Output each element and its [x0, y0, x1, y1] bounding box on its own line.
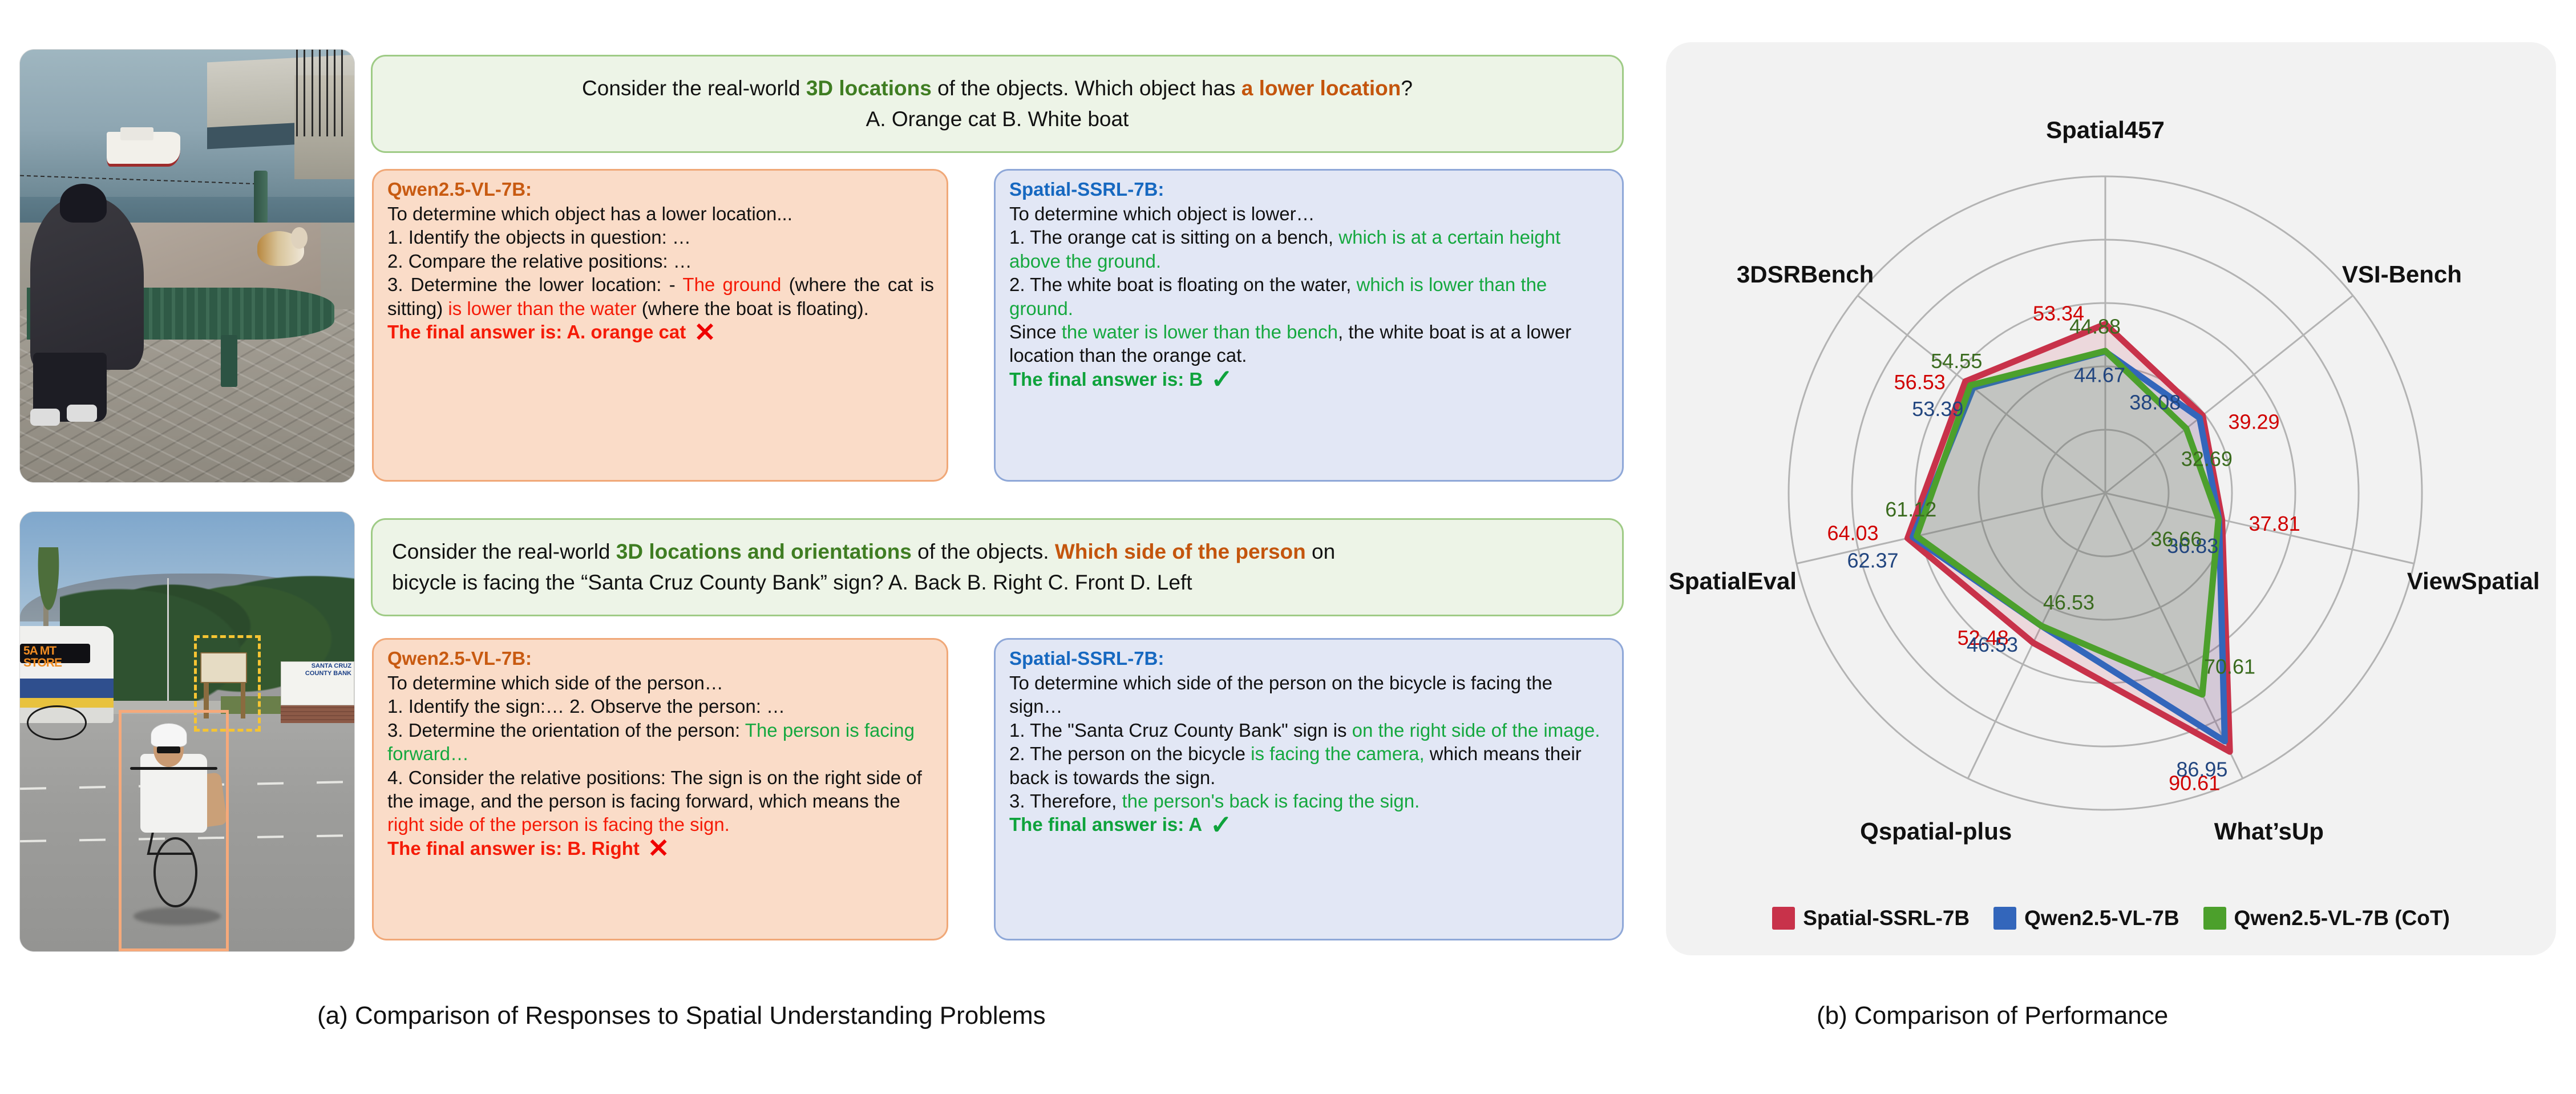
- a2r-final-text: The final answer is: A: [1009, 813, 1202, 836]
- a1l-line-3: 3. Determine the lower location: -: [387, 274, 682, 295]
- answer-2-right-step2: 2. The person on the bicycle is facing t…: [1009, 742, 1610, 789]
- caption-panel-b: (b) Comparison of Performance: [1817, 1002, 2168, 1030]
- bus-destination-text: 5A MT STORE: [20, 644, 90, 669]
- a2l-line-4: 4. Consider the relative positions: The …: [387, 767, 922, 812]
- a2l-line-2: 3. Determine the orientation of the pers…: [387, 720, 745, 741]
- check-icon: ✓: [1211, 370, 1233, 388]
- answer-box-2-qwen: Qwen2.5-VL-7B: To determine which side o…: [372, 638, 948, 940]
- q1-pre: Consider the real-world: [582, 76, 806, 100]
- legend-item-spatial-ssrl-7b[interactable]: Spatial-SSRL-7B: [1772, 906, 1970, 930]
- answer-2-right-step3: 3. Therefore, the person's back is facin…: [1009, 789, 1610, 813]
- answer-2-right-model-label: Spatial-SSRL-7B:: [1009, 648, 1610, 669]
- person-shoe-left: [30, 409, 60, 426]
- q2-pre: Consider the real-world: [392, 540, 616, 563]
- radar-axis-label-what-sup: What’sUp: [2214, 818, 2324, 845]
- a2r-line-4: is facing the camera,: [1251, 743, 1424, 764]
- q1-highlight-orange: a lower location: [1242, 76, 1401, 100]
- person-shoe-right: [67, 405, 97, 422]
- bollard: [254, 171, 267, 223]
- answer-2-right-step1: 1. The "Santa Cruz County Bank" sign is …: [1009, 718, 1610, 742]
- a1l-line-2: 2. Compare the relative positions: …: [387, 251, 692, 272]
- answer-box-1-qwen: Qwen2.5-VL-7B: To determine which object…: [372, 169, 948, 482]
- answer-1-right-model-label: Spatial-SSRL-7B:: [1009, 179, 1610, 200]
- legend-label: Qwen2.5-VL-7B: [2024, 906, 2179, 930]
- legend-swatch: [1993, 907, 2016, 930]
- flag-pole: [167, 578, 169, 710]
- caption-panel-a: (a) Comparison of Responses to Spatial U…: [317, 1002, 1046, 1030]
- bank-sign-line-2: COUNTY BANK: [281, 669, 354, 677]
- example-1-photo: [19, 49, 355, 483]
- radar-axis-label-viewspatial: ViewSpatial: [2407, 568, 2540, 595]
- legend-swatch: [1772, 907, 1795, 930]
- answer-box-2-ssrl: Spatial-SSRL-7B: To determine which side…: [994, 638, 1624, 940]
- question-box-2: Consider the real-world 3D locations and…: [371, 518, 1624, 616]
- santa-cruz-county-bank-sign: SANTA CRUZ COUNTY BANK: [281, 661, 354, 705]
- person-hat: [60, 184, 107, 223]
- a1r-line-3: 2. The white boat is floating on the wat…: [1009, 274, 1356, 295]
- radar-value-label: 54.55: [1931, 349, 1982, 373]
- answer-1-right-body: To determine which object is lower…: [1009, 202, 1610, 225]
- a1r-final-text: The final answer is: B: [1009, 368, 1203, 391]
- bank-sign-line-1: SANTA CRUZ: [281, 662, 354, 670]
- street-scene: 5A MT STORE SANTA CRUZ COUNTY BANK: [20, 512, 354, 951]
- a2r-line-3: 2. The person on the bicycle: [1009, 743, 1251, 764]
- answer-2-left-model-label: Qwen2.5-VL-7B:: [387, 648, 934, 669]
- q1-mid: of the objects. Which object has: [932, 76, 1242, 100]
- answer-2-right-final: The final answer is: A ✓: [1009, 813, 1610, 836]
- question-2-line-1: Consider the real-world 3D locations and…: [392, 536, 1603, 567]
- panel-a-qualitative: 5A MT STORE SANTA CRUZ COUNTY BANK: [0, 0, 1643, 1094]
- radar-value-label: 56.53: [1894, 370, 1946, 394]
- radar-axis-label-3dsrbench: 3DSRBench: [1737, 261, 1874, 288]
- bench-leg: [221, 335, 237, 387]
- a1l-line-6: is lower than the water: [448, 298, 636, 319]
- answer-2-right-body: To determine which side of the person on…: [1009, 671, 1610, 718]
- a2r-line-0: To determine which side of the person on…: [1009, 672, 1552, 717]
- a1r-line-5: Since: [1009, 321, 1062, 342]
- answer-2-left-body: To determine which side of the person…: [387, 671, 934, 695]
- radar-value-label: 37.81: [2249, 512, 2300, 535]
- check-icon: ✓: [1210, 816, 1232, 834]
- legend-label: Spatial-SSRL-7B: [1803, 906, 1970, 930]
- cross-icon: ✕: [648, 839, 670, 857]
- answer-1-right-conclusion: Since the water is lower than the bench,…: [1009, 320, 1610, 368]
- a2r-line-2: on the right side of the image.: [1352, 720, 1600, 741]
- question-2-line-2: bicycle is facing the “Santa Cruz County…: [392, 567, 1603, 598]
- radar-value-label: 38.08: [2129, 391, 2181, 414]
- legend-item-qwen2-5-vl-7b[interactable]: Qwen2.5-VL-7B: [1993, 906, 2179, 930]
- answer-1-right-final: The final answer is: B ✓: [1009, 368, 1610, 391]
- question-1-line-1: Consider the real-world 3D locations of …: [392, 73, 1603, 104]
- answer-2-left-final: The final answer is: B. Right ✕: [387, 837, 934, 860]
- answer-1-right-step1: 1. The orange cat is sitting on a bench,…: [1009, 225, 1610, 273]
- radar-value-label: 70.61: [2204, 655, 2255, 679]
- radar-value-label: 46.53: [1967, 633, 2018, 656]
- radar-legend: Spatial-SSRL-7BQwen2.5-VL-7BQwen2.5-VL-7…: [1666, 906, 2556, 930]
- answer-1-left-model-label: Qwen2.5-VL-7B:: [387, 179, 934, 200]
- radar-value-label: 64.03: [1827, 522, 1878, 545]
- question-1-options: A. Orange cat B. White boat: [392, 104, 1603, 135]
- q2-highlight-orange: Which side of the person: [1055, 540, 1306, 563]
- bus-destination-sign: 5A MT STORE: [20, 644, 90, 663]
- q2-highlight-green: 3D locations and orientations: [616, 540, 912, 563]
- legend-swatch: [2203, 907, 2226, 930]
- q2-post: on: [1306, 540, 1335, 563]
- a1l-line-1: 1. Identify the objects in question: …: [387, 227, 691, 248]
- legend-item-qwen2-5-vl-7b-cot-[interactable]: Qwen2.5-VL-7B (CoT): [2203, 906, 2450, 930]
- radar-axis-label-qspatial-plus: Qspatial-plus: [1860, 818, 2012, 845]
- figure-root: 5A MT STORE SANTA CRUZ COUNTY BANK: [0, 0, 2576, 1094]
- legend-label: Qwen2.5-VL-7B (CoT): [2234, 906, 2450, 930]
- radar-chart-svg: Spatial457VSI-BenchViewSpatialWhat’sUpQs…: [1666, 42, 2556, 864]
- radar-value-label: 36.66: [2150, 527, 2202, 551]
- a2l-line-0: To determine which side of the person…: [387, 672, 723, 693]
- answer-1-left-step2: 2. Compare the relative positions: …: [387, 249, 934, 273]
- radar-value-label: 32.69: [2181, 447, 2233, 470]
- a2l-final-text: The final answer is: B. Right: [387, 837, 640, 860]
- railing: [294, 50, 348, 136]
- orange-annotation-box: [119, 710, 229, 952]
- a1l-line-0: To determine which object has a lower lo…: [387, 203, 792, 224]
- answer-1-left-step1: 1. Identify the objects in question: …: [387, 225, 934, 249]
- cat-head: [291, 227, 308, 249]
- example-2-photo: 5A MT STORE SANTA CRUZ COUNTY BANK: [19, 511, 355, 952]
- radar-value-label: 61.12: [1885, 498, 1936, 521]
- panel-b-radar-chart: Spatial457VSI-BenchViewSpatialWhat’sUpQs…: [1666, 42, 2556, 955]
- bike-on-bus-rack: [27, 705, 87, 741]
- a1l-final-text: The final answer is: A. orange cat: [387, 320, 686, 344]
- a2l-line-5: right side of the person is facing the s…: [387, 814, 730, 835]
- answer-2-left-steps12: 1. Identify the sign:… 2. Observe the pe…: [387, 695, 934, 718]
- radar-value-label: 44.88: [2069, 314, 2121, 338]
- radar-axis-label-vsi-bench: VSI-Bench: [2342, 261, 2462, 288]
- radar-value-label: 39.29: [2228, 410, 2279, 434]
- question-box-1: Consider the real-world 3D locations of …: [371, 55, 1624, 153]
- answer-box-1-ssrl: Spatial-SSRL-7B: To determine which obje…: [994, 169, 1624, 482]
- a2r-line-1: 1. The "Santa Cruz County Bank" sign is: [1009, 720, 1352, 741]
- seated-person: [30, 197, 144, 370]
- radar-value-label: 53.39: [1912, 397, 1963, 421]
- answer-2-left-step4: 4. Consider the relative positions: The …: [387, 766, 934, 837]
- a1l-line-7: (where the boat is floating).: [637, 298, 869, 319]
- a2r-line-6: 3. Therefore,: [1009, 790, 1122, 812]
- answer-1-left-step3: 3. Determine the lower location: - The g…: [387, 273, 934, 320]
- radar-axis-label-spatialeval: SpatialEval: [1669, 568, 1797, 595]
- q1-post: ?: [1401, 76, 1413, 100]
- a1l-line-4: The ground: [682, 274, 781, 295]
- answer-1-left-final: The final answer is: A. orange cat ✕: [387, 320, 934, 344]
- answer-2-left-step3: 3. Determine the orientation of the pers…: [387, 718, 934, 766]
- radar-value-label: 46.53: [2043, 591, 2094, 614]
- answer-1-left-body: To determine which object has a lower lo…: [387, 202, 934, 225]
- a1r-line-6: the water is lower than the bench: [1062, 321, 1338, 342]
- a2l-line-1: 1. Identify the sign:… 2. Observe the pe…: [387, 696, 785, 717]
- radar-value-label: 62.37: [1847, 549, 1898, 572]
- q1-highlight-green: 3D locations: [806, 76, 932, 100]
- boat-cabin: [120, 127, 154, 140]
- radar-value-label: 86.95: [2176, 757, 2227, 781]
- q2-mid: of the objects.: [912, 540, 1055, 563]
- a1r-line-0: To determine which object is lower…: [1009, 203, 1315, 224]
- a1r-line-1: 1. The orange cat is sitting on a bench,: [1009, 227, 1338, 248]
- answer-1-right-step2: 2. The white boat is floating on the wat…: [1009, 273, 1610, 320]
- radar-value-label: 44.67: [2074, 364, 2125, 387]
- a2r-line-7: the person's back is facing the sign.: [1122, 790, 1420, 812]
- cross-icon: ✕: [694, 323, 716, 341]
- harbour-scene: [20, 50, 354, 482]
- radar-axis-label-spatial457: Spatial457: [2046, 116, 2165, 143]
